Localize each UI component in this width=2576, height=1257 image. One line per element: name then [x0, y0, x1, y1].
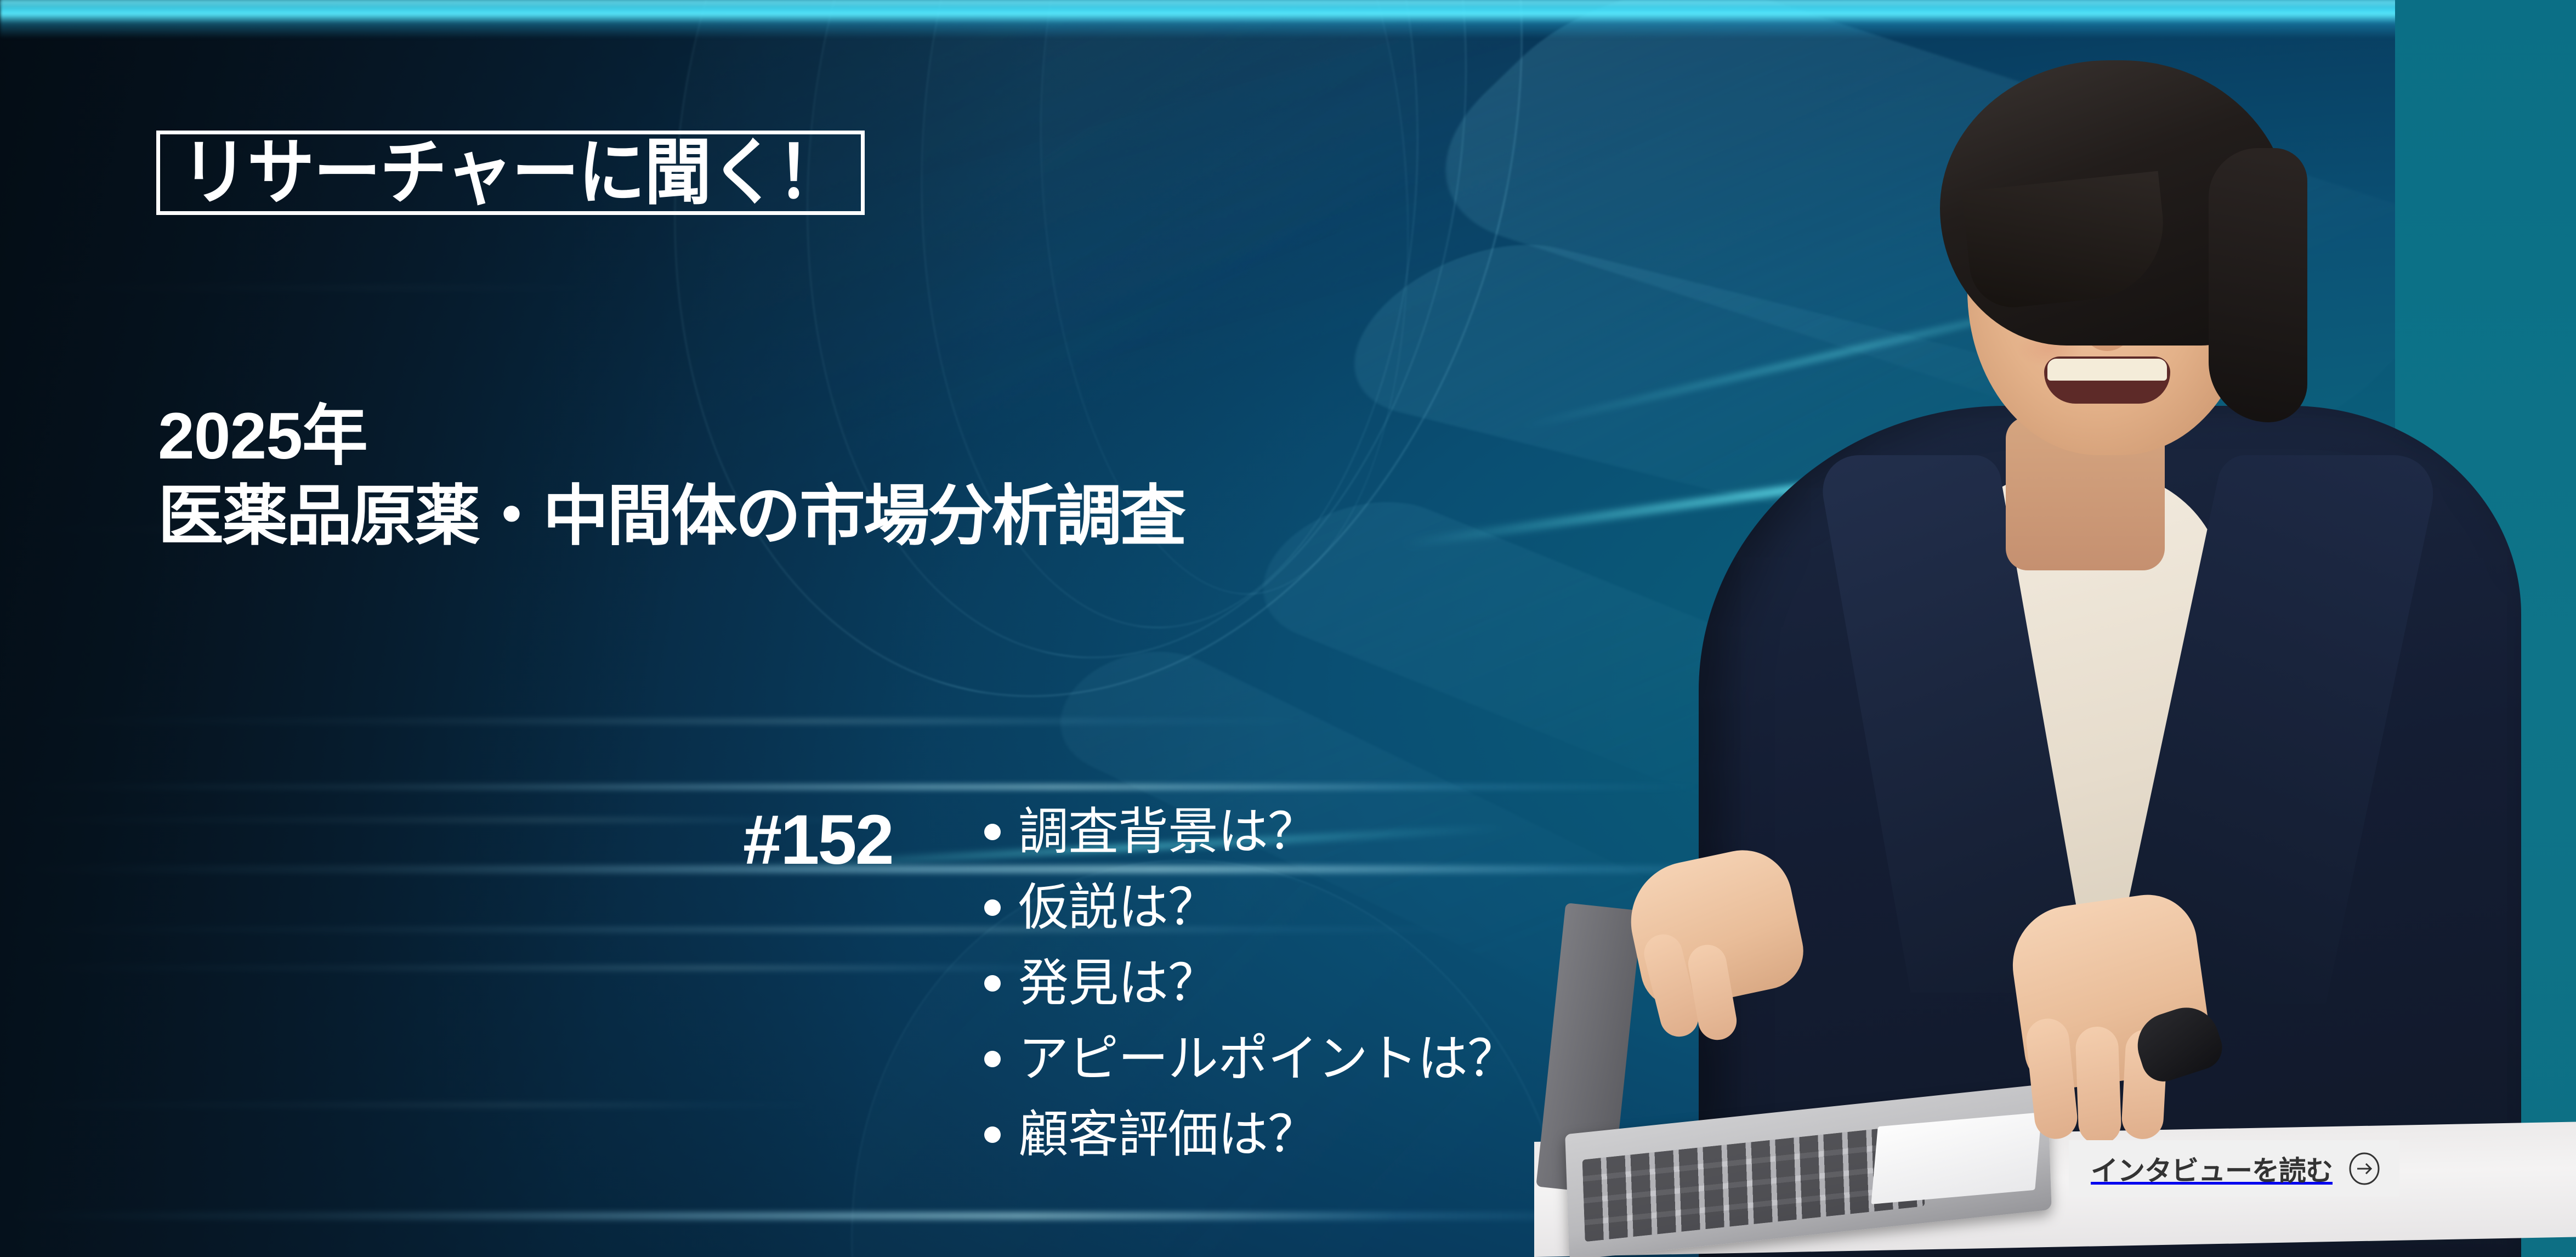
list-item-label: 仮説は？: [1018, 882, 1218, 933]
list-item-label: 発見は？: [1018, 958, 1218, 1009]
photo-hair-side: [2209, 148, 2307, 422]
list-item-label: 調査背景は？: [1018, 807, 1318, 857]
photo-paper: [1871, 1112, 2041, 1204]
question-list: 調査背景は？ 仮説は？ 発見は？ アピールポイントは？ 顧客評価は？: [984, 794, 1517, 1173]
list-item-label: アピールポイントは？: [1018, 1034, 1517, 1084]
interview-banner: リサーチャーに聞く！ 2025年 医薬品原薬・中間体の市場分析調査 #152 調…: [0, 0, 2576, 1257]
list-item: 仮説は？: [984, 870, 1517, 945]
photo-teeth: [2047, 359, 2167, 381]
list-item: アピールポイントは？: [984, 1021, 1517, 1097]
photo-finger-right-2: [2075, 1026, 2121, 1146]
photo-mouth: [2044, 356, 2170, 404]
list-item: 発見は？: [984, 945, 1517, 1021]
list-item: 調査背景は？: [984, 794, 1517, 870]
title-line-topic: 医薬品原薬・中間体の市場分析調査: [158, 476, 1184, 556]
page-title: 2025年 医薬品原薬・中間体の市場分析調査: [158, 396, 1184, 557]
bullet-dot-icon: [984, 824, 1001, 840]
category-badge-label: リサーチャーに聞く！: [181, 137, 843, 209]
list-item: 顧客評価は？: [984, 1097, 1517, 1173]
bullet-dot-icon: [984, 1126, 1001, 1143]
researcher-photo: [1534, 0, 2576, 1257]
bullet-dot-icon: [984, 1051, 1001, 1067]
bullet-dot-icon: [984, 899, 1001, 916]
title-line-year: 2025年: [158, 396, 1184, 476]
bullet-dot-icon: [984, 975, 1001, 992]
list-item-label: 顧客評価は？: [1018, 1109, 1318, 1160]
category-badge: リサーチャーに聞く！: [156, 131, 865, 215]
issue-number: #152: [743, 805, 893, 875]
arrow-right-circle-icon: [2348, 1152, 2381, 1185]
read-interview-label: インタビューを読む: [2091, 1149, 2333, 1188]
read-interview-button[interactable]: インタビューを読む: [2069, 1140, 2399, 1197]
